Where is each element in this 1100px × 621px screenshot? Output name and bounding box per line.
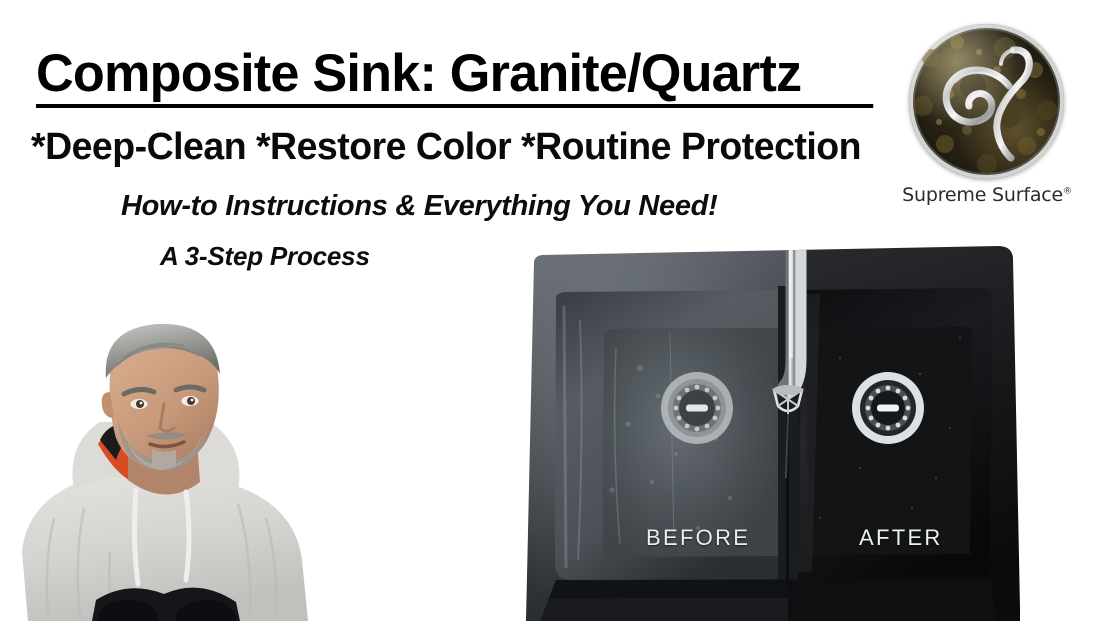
page-title: Composite Sink: Granite/Quartz [36,46,873,108]
granite-disc-icon [909,24,1064,179]
process-note: A 3-Step Process [160,241,370,272]
brand-name-text: Supreme Surface [902,184,1063,206]
presenter-photo [0,322,345,621]
video-thumbnail-canvas: Composite Sink: Granite/Quartz *Deep-Cle… [0,0,1100,621]
tagline: How-to Instructions & Everything You Nee… [121,190,717,223]
registered-trademark-icon: ® [1063,187,1072,197]
drain-after [852,372,924,444]
basin-label-after: AFTER [859,525,943,551]
sink-before-after-photo: BEFORE AFTER [520,228,1020,621]
drain-before [661,372,733,444]
benefits-line: *Deep-Clean *Restore Color *Routine Prot… [31,127,861,169]
brand-logo: Supreme Surface® [901,24,1073,212]
basin-label-before: BEFORE [646,525,750,551]
brand-name: Supreme Surface® [901,184,1073,206]
